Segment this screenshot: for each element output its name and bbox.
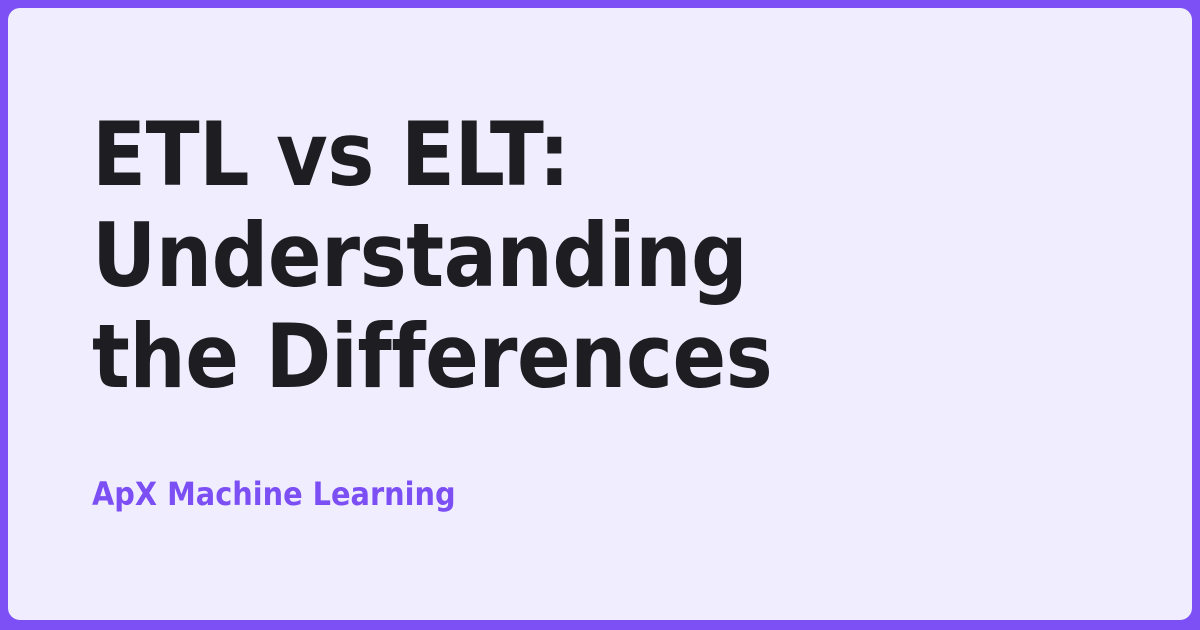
site-name-label: ApX Machine Learning [92,407,852,513]
og-card-canvas: ETL vs ELT: Understanding the Difference… [8,8,1192,620]
og-card-content: ETL vs ELT: Understanding the Difference… [92,104,852,513]
page-title: ETL vs ELT: Understanding the Difference… [92,104,837,407]
og-card-frame: ETL vs ELT: Understanding the Difference… [0,0,1200,630]
